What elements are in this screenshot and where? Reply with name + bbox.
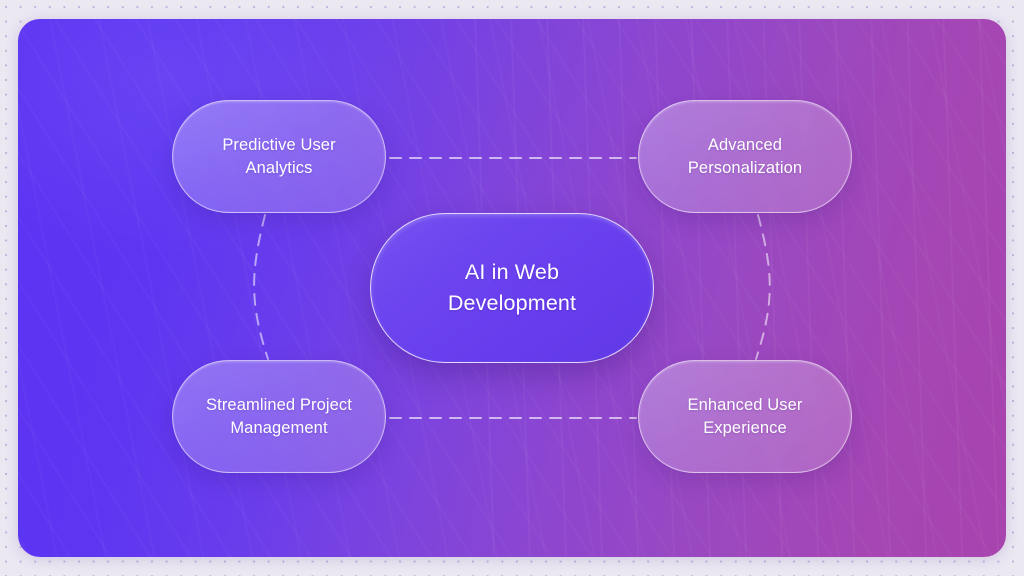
node-ai-in-web-development[interactable]: AI in Web Development [370, 213, 654, 363]
connector-left-curve [254, 215, 268, 359]
node-advanced-personalization[interactable]: Advanced Personalization [638, 100, 852, 213]
node-enhanced-user-experience[interactable]: Enhanced User Experience [638, 360, 852, 473]
node-streamlined-project-management[interactable]: Streamlined Project Management [172, 360, 386, 473]
page-background: Predictive User Analytics Advanced Perso… [0, 0, 1024, 576]
node-label: Predictive User Analytics [206, 134, 351, 180]
node-label: Streamlined Project Management [190, 394, 368, 440]
center-node-label: AI in Web Development [432, 257, 592, 319]
node-label: Enhanced User Experience [671, 394, 818, 440]
node-label: Advanced Personalization [672, 134, 818, 180]
connector-right-curve [756, 215, 770, 359]
node-predictive-user-analytics[interactable]: Predictive User Analytics [172, 100, 386, 213]
diagram-panel: Predictive User Analytics Advanced Perso… [18, 19, 1006, 557]
